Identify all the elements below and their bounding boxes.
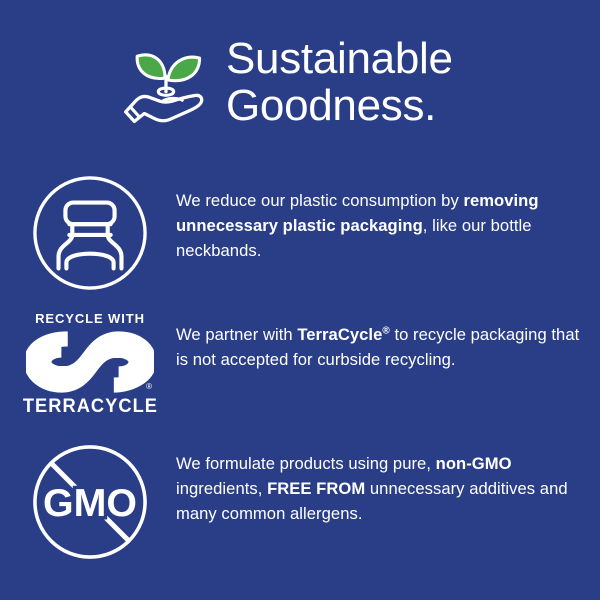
bottle-neckband-circle-icon <box>31 174 149 292</box>
infinity-recycle-arrows-icon <box>26 331 154 393</box>
feature-row-terracycle: RECYCLE WITH ® TERRACYCLE We partner wit… <box>0 312 600 416</box>
no-gmo-badge: GMO <box>0 443 176 561</box>
terracycle-top-label: RECYCLE WITH <box>35 312 145 325</box>
terracycle-wordmark: TERRACYCLE <box>22 397 157 416</box>
terracycle-logo: RECYCLE WITH ® TERRACYCLE <box>0 312 176 416</box>
feature-row-gmo: GMO We formulate products using pure, no… <box>0 443 600 561</box>
no-gmo-label: GMO <box>43 481 137 525</box>
hand-holding-seedling-icon <box>118 36 214 132</box>
header: Sustainable Goodness. <box>0 22 600 142</box>
page-title: Sustainable Goodness. <box>226 35 453 129</box>
bottle-neckband-badge <box>0 174 176 292</box>
feature-text-plastic: We reduce our plastic consumption by rem… <box>176 174 600 263</box>
feature-row-plastic: We reduce our plastic consumption by rem… <box>0 174 600 292</box>
no-gmo-circle-icon: GMO <box>31 443 149 561</box>
feature-text-terracycle: We partner with TerraCycle® to recycle p… <box>176 312 600 372</box>
feature-text-gmo: We formulate products using pure, non-GM… <box>176 443 600 526</box>
